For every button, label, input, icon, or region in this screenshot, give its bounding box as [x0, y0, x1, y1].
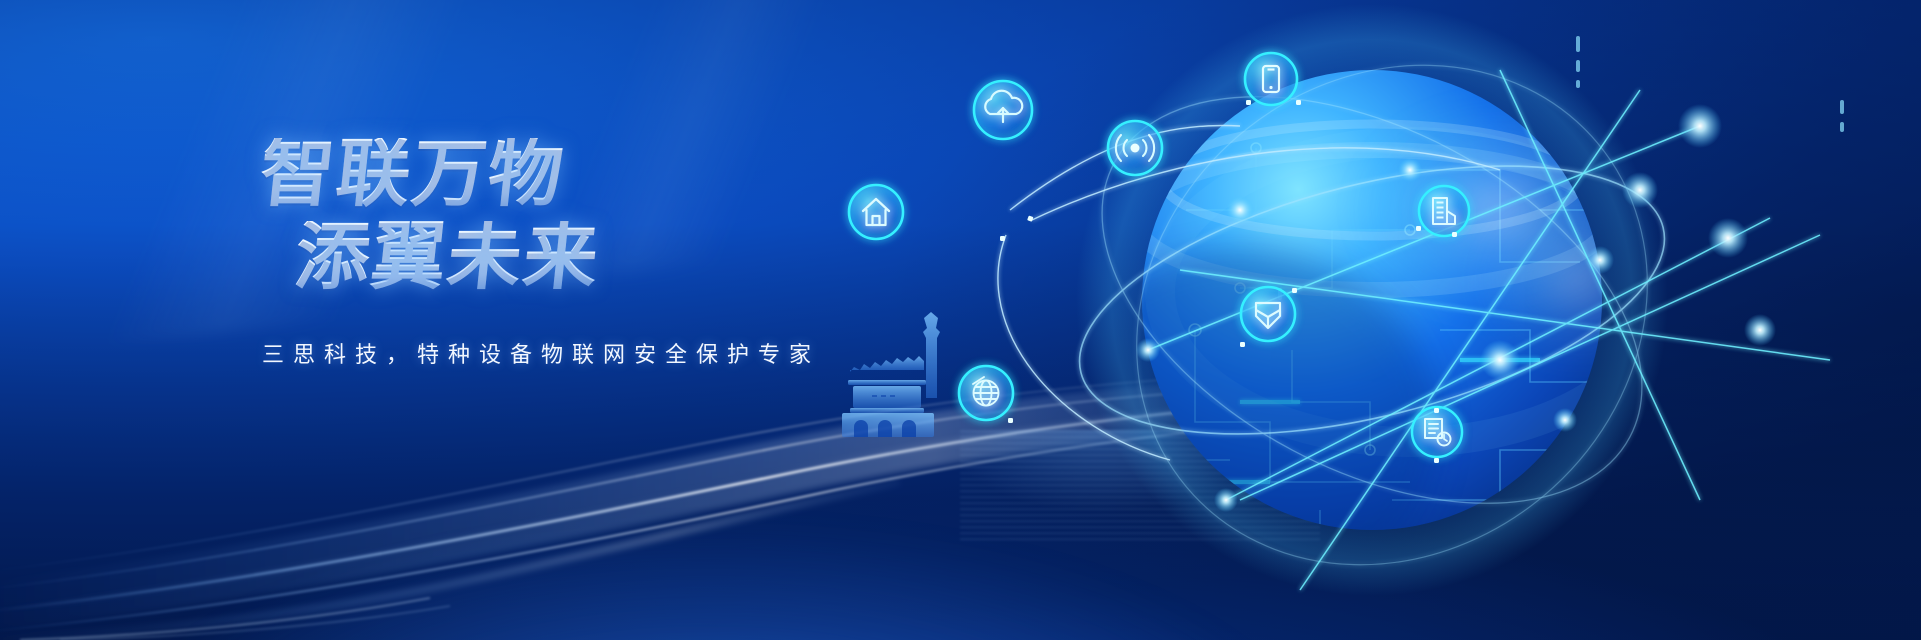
node-smartphone-icon[interactable]: [1245, 53, 1297, 105]
headline-line-2: 添翼未来: [292, 221, 1016, 294]
node-building-icon[interactable]: [1419, 186, 1469, 236]
node-shield-icon[interactable]: [1241, 287, 1295, 341]
node-wifi-signal-icon[interactable]: [1108, 121, 1162, 175]
node-cloud-upload-icon[interactable]: [974, 81, 1032, 139]
hero-copy: 智联万物 添翼未来 三思科技，特种设备物联网安全保护专家: [256, 138, 1016, 369]
hero-banner: 智联万物 添翼未来 三思科技，特种设备物联网安全保护专家: [0, 0, 1921, 640]
hero-tagline: 三思科技，特种设备物联网安全保护专家: [262, 337, 1016, 369]
node-document-icon[interactable]: [1412, 407, 1462, 457]
page-title: 智联万物 添翼未来: [248, 138, 1024, 293]
headline-line-1: 智联万物: [257, 138, 1025, 211]
iot-globe-graphic: [940, 30, 1920, 630]
